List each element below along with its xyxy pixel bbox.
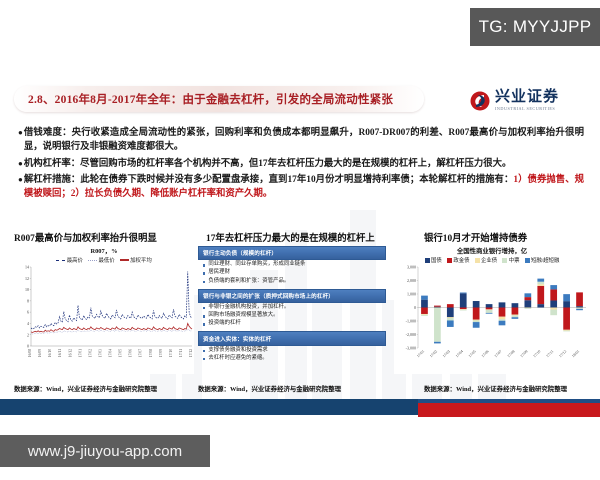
tg-watermark-text: TG: MYYJJPP (479, 17, 592, 37)
svg-text:17/11: 17/11 (179, 349, 183, 357)
bar-segment (563, 308, 570, 330)
logo-name-cn: 兴业证券 (495, 90, 559, 105)
bullet-marker: ● (18, 126, 23, 155)
legend-item: 企业债 (475, 256, 498, 264)
leverage-item-text: 回购市场融资规模显著放大。 (208, 311, 278, 319)
svg-text:17/05: 17/05 (119, 349, 123, 357)
svg-text:17/06: 17/06 (129, 349, 133, 357)
bar-segment (460, 309, 467, 310)
square-bullet-icon (203, 307, 205, 309)
square-bullet-icon (203, 315, 205, 317)
bar-segment (524, 308, 531, 309)
bar-segment (537, 304, 544, 307)
bar-segment (460, 293, 467, 307)
svg-text:17/10: 17/10 (169, 349, 173, 357)
legend-swatch (56, 260, 65, 261)
bar-segment (499, 302, 506, 307)
svg-text:2: 2 (27, 332, 29, 337)
svg-text:17/11: 17/11 (546, 349, 555, 358)
bar-segment (512, 315, 519, 316)
bar-segment (563, 301, 570, 307)
bullet-marker: ● (18, 157, 23, 171)
bullet-item: ●借钱难度：央行收紧造成全局流动性的紧张，回购利率和负债成本都明显飙升，R007… (18, 126, 584, 155)
svg-text:-1,000: -1,000 (406, 319, 416, 325)
legend-swatch (425, 258, 430, 263)
legend-label: 短融/超短融 (531, 256, 559, 264)
bar-segment (537, 286, 544, 304)
square-bullet-icon (203, 272, 205, 274)
legend-label: 企业债 (481, 256, 497, 264)
legend-item: 短融/超短融 (525, 256, 560, 264)
leverage-item-text: 支撑债务融资和投资需求 (208, 346, 267, 354)
legend-item: 加权平均 (120, 256, 152, 264)
bar-segment (576, 306, 583, 307)
square-bullet-icon (203, 358, 205, 360)
leverage-group-item: 同业理财、同业存单购买，形成同业链条 (198, 260, 386, 268)
bar-segment (447, 317, 454, 318)
bar-segment (576, 308, 583, 309)
bullet-text-segment: 借钱难度：央行收紧造成全局流动性的紧张，回购利率和负债成本都明显飙升，R007-… (24, 128, 584, 152)
bar-segment (447, 304, 454, 307)
svg-text:0: 0 (414, 305, 416, 310)
bar-segment (460, 310, 467, 311)
bar-segment (434, 342, 441, 344)
chart-r007-legend: 最高价最低价加权平均 (14, 256, 194, 264)
bar-segment (486, 308, 493, 310)
svg-text:17/03: 17/03 (442, 349, 451, 358)
svg-text:17/08: 17/08 (149, 349, 153, 357)
leverage-group-item: 居民理财 (198, 268, 386, 276)
source-note-middle: 数据来源：Wind，兴业证券经济与金融研究院整理 (198, 384, 341, 393)
legend-label: 中票 (509, 256, 520, 264)
bullet-item: ●机构杠杆率：尽管回购市场的杠杆率各个机构并不高，但17年去杠杆压力最大的是在规… (18, 157, 584, 171)
legend-item: 最低价 (88, 256, 115, 264)
svg-text:17/04: 17/04 (455, 349, 464, 358)
panel-header-middle: 17年去杠杆压力最大的是在规模的杠杆上 (206, 230, 375, 244)
bar-segment (563, 330, 570, 331)
svg-text:17/05: 17/05 (468, 349, 477, 358)
panel-header-left: R007最高价与加权利率抬升很明显 (14, 230, 157, 244)
svg-text:-3,000: -3,000 (406, 346, 416, 352)
bar-segment (421, 300, 428, 308)
svg-text:16/10: 16/10 (48, 349, 52, 357)
legend-label: 最低价 (98, 256, 114, 264)
bar-segment (473, 322, 480, 328)
chart-bank-holdings-panel: 全国性商业银行增持，亿 国债政金债企业债中票短融/超短融 -3,000-2,00… (394, 246, 590, 374)
svg-text:2,000: 2,000 (407, 278, 416, 284)
bar-segment (550, 308, 557, 310)
bar-segment (486, 313, 493, 314)
svg-text:17/01: 17/01 (416, 349, 425, 358)
svg-text:4: 4 (27, 321, 29, 326)
bar-segment (550, 310, 557, 316)
bullet-text: 机构杠杆率：尽管回购市场的杠杆率各个机构并不高，但17年去杠杆压力最大的是在规模… (24, 157, 584, 171)
bar-segment (537, 282, 544, 284)
bar-segment (563, 331, 570, 332)
chart-bank-holdings-legend: 国债政金债企业债中票短融/超短融 (394, 256, 590, 264)
legend-item: 中票 (502, 256, 519, 264)
bar-segment (576, 309, 583, 310)
bar-segment (421, 308, 428, 314)
bullet-item: ●解杠杆措施：此轮在债券下跌时候并没有多少配置盘承接，直到17年10月份才明显增… (18, 173, 584, 202)
square-bullet-icon (203, 281, 205, 283)
source-note-right: 数据来源：Wind，兴业证券经济与金融研究院整理 (424, 384, 567, 393)
slide-title-band: 2.8、2016年8月-2017年全年：由于金融去杠杆，引发的全局流动性紧张 (14, 86, 424, 112)
legend-swatch (120, 259, 129, 261)
bar-segment (434, 308, 441, 342)
legend-swatch (525, 258, 530, 263)
bar-segment (550, 289, 557, 300)
leverage-item-text: 去杠杆时应避免的紧缩。 (208, 354, 267, 362)
bullet-text-segment: 机构杠杆率：尽管回购市场的杠杆率各个机构并不高，但17年去杠杆压力最大的是在规模… (24, 159, 512, 169)
leverage-group-item: 非银行金融机构投资，并加杠杆。 (198, 303, 386, 311)
bar-segment (486, 309, 493, 310)
bar-segment (524, 297, 531, 300)
square-bullet-icon (203, 264, 205, 266)
bar-segment (486, 310, 493, 313)
leverage-item-text: 负债端的套利和扩张：资管产品。 (208, 277, 289, 285)
bullet-list: ●借钱难度：央行收紧造成全局流动性的紧张，回购利率和负债成本都明显飙升，R007… (18, 126, 584, 203)
svg-text:10: 10 (25, 287, 29, 292)
tg-watermark-badge: TG: MYYJJPP (470, 8, 600, 46)
svg-text:16/09: 16/09 (38, 349, 42, 357)
bar-segment (473, 301, 480, 307)
bar-segment (499, 317, 506, 319)
bar-segment (576, 292, 583, 306)
bar-segment (524, 293, 531, 297)
legend-swatch (475, 258, 480, 263)
svg-text:17/09: 17/09 (159, 349, 163, 357)
footer-bar-red (418, 403, 600, 417)
legend-swatch (502, 258, 507, 263)
bar-segment (499, 319, 506, 321)
svg-text:16/12: 16/12 (68, 349, 72, 357)
square-bullet-icon (203, 323, 205, 325)
svg-text:17/08: 17/08 (507, 349, 516, 358)
leverage-item-text: 非银行金融机构投资，并加杠杆。 (208, 303, 289, 311)
svg-text:8: 8 (27, 298, 29, 303)
svg-text:17/02: 17/02 (88, 349, 92, 357)
chart-bank-holdings-title: 全国性商业银行增持，亿 (394, 246, 590, 255)
chart-r007-title: R007，% (14, 246, 194, 255)
svg-text:17/07: 17/07 (139, 349, 143, 357)
leverage-group-header: 银行与非银之间的扩张（质押式回购市场上的杠杆） (198, 289, 386, 303)
bar-segment (512, 315, 519, 317)
svg-text:17/07: 17/07 (494, 349, 503, 358)
leverage-group-item: 回购市场融资规模显著放大。 (198, 311, 386, 319)
leverage-item-text: 投资端的杠杆 (208, 319, 240, 327)
leverage-group-item: 投资端的杠杆 (198, 319, 386, 327)
bar-segment (512, 303, 519, 307)
svg-text:1,000: 1,000 (407, 292, 416, 298)
svg-text:17/02: 17/02 (429, 349, 438, 358)
square-bullet-icon (203, 350, 205, 352)
bar-segment (499, 321, 506, 326)
svg-text:14: 14 (25, 265, 29, 270)
company-logo: 兴业证券 INDUSTRIAL SECURITIES (470, 86, 586, 116)
bar-segment (512, 317, 519, 319)
svg-text:16/11: 16/11 (58, 349, 62, 357)
leverage-group-header: 资金进入实体：实体的杠杆 (198, 331, 386, 345)
svg-text:17/12: 17/12 (189, 349, 193, 357)
svg-text:17/01: 17/01 (78, 349, 82, 357)
svg-text:17/09: 17/09 (520, 349, 529, 358)
legend-label: 加权平均 (130, 256, 152, 264)
legend-item: 国债 (425, 256, 442, 264)
bar-segment (537, 279, 544, 282)
bar-segment (447, 320, 454, 326)
bar-segment (434, 308, 441, 309)
bullet-text: 解杠杆措施：此轮在债券下跌时候并没有多少配置盘承接，直到17年10月份才明显增持… (24, 173, 584, 202)
bar-segment (537, 284, 544, 286)
panel-header-right: 银行10月才开始增持债券 (424, 230, 527, 244)
svg-text:18/01: 18/01 (571, 349, 580, 358)
legend-label: 政金债 (453, 256, 469, 264)
bar-segment (486, 304, 493, 307)
svg-text:12: 12 (25, 276, 29, 281)
leverage-group-header: 银行主动负债（规模的杠杆） (198, 246, 386, 260)
footer-bar-blue (0, 399, 418, 415)
leverage-group: 银行与非银之间的扩张（质押式回购市场上的杠杆）非银行金融机构投资，并加杠杆。回购… (198, 289, 386, 328)
bar-segment (524, 308, 531, 309)
bullet-text: 借钱难度：央行收紧造成全局流动性的紧张，回购利率和负债成本都明显飙升，R007-… (24, 126, 584, 155)
svg-text:6: 6 (27, 310, 29, 315)
leverage-group-item: 负债端的套利和扩张：资管产品。 (198, 277, 386, 285)
leverage-group: 银行主动负债（规模的杠杆）同业理财、同业存单购买，形成同业链条居民理财负债端的套… (198, 246, 386, 285)
logo-name-en: INDUSTRIAL SECURITIES (495, 107, 559, 111)
bullet-text-segment: 解杠杆措施：此轮在债券下跌时候并没有多少配置盘承接，直到17年10月份才明显增持… (24, 175, 514, 185)
bar-segment (550, 300, 557, 307)
logo-swirl-icon (470, 91, 490, 111)
bar-segment (563, 294, 570, 301)
leverage-group-item: 去杠杆时应避免的紧缩。 (198, 354, 386, 362)
svg-text:17/06: 17/06 (481, 349, 490, 358)
legend-item: 政金债 (447, 256, 470, 264)
leverage-structure-panel: 银行主动负债（规模的杠杆）同业理财、同业存单购买，形成同业链条居民理财负债端的套… (198, 246, 386, 374)
leverage-item-text: 同业理财、同业存单购买，形成同业链条 (208, 260, 305, 268)
bar-segment (460, 308, 467, 310)
url-watermark-text: www.j9-jiuyou-app.com (28, 443, 182, 460)
bar-segment (550, 285, 557, 289)
page-title: 2.8、2016年8月-2017年全年：由于金融去杠杆，引发的全局流动性紧张 (14, 91, 393, 107)
bar-segment (499, 308, 506, 317)
bar-segment (473, 320, 480, 322)
svg-text:3,000: 3,000 (407, 265, 416, 271)
url-watermark-badge: www.j9-jiuyou-app.com (0, 435, 210, 467)
svg-text:16/08: 16/08 (28, 349, 32, 357)
leverage-item-text: 居民理财 (208, 268, 230, 276)
svg-text:0: 0 (27, 344, 29, 349)
bar-segment (524, 300, 531, 307)
legend-label: 最高价 (67, 256, 83, 264)
svg-text:17/03: 17/03 (98, 349, 102, 357)
svg-text:-2,000: -2,000 (406, 332, 416, 338)
leverage-group-item: 支撑债务融资和投资需求 (198, 346, 386, 354)
svg-text:17/10: 17/10 (533, 349, 542, 358)
svg-text:17/12: 17/12 (558, 349, 567, 358)
bullet-marker: ● (18, 173, 23, 202)
bar-segment (447, 318, 454, 320)
bar-segment (473, 320, 480, 321)
bar-segment (460, 293, 467, 294)
bar-segment (473, 308, 480, 320)
bar-segment (421, 315, 428, 316)
source-note-left: 数据来源：Wind，兴业证券经济与金融研究院整理 (14, 384, 157, 393)
chart-r007-plot: 0246810121416/0816/0916/1016/1116/1217/0… (14, 264, 194, 370)
leverage-group: 资金进入实体：实体的杠杆支撑债务融资和投资需求去杠杆时应避免的紧缩。 (198, 331, 386, 362)
bar-segment (512, 308, 519, 315)
bar-segment (447, 308, 454, 318)
chart-bank-holdings-plot: -3,000-2,000-1,00001,0002,0003,00017/011… (394, 264, 590, 372)
bar-segment (421, 296, 428, 300)
bar-segment (434, 306, 441, 307)
legend-swatch (88, 260, 97, 261)
bar-segment (576, 308, 583, 309)
svg-text:17/04: 17/04 (109, 349, 113, 357)
legend-swatch (447, 258, 452, 263)
bar-segment (421, 314, 428, 315)
legend-item: 最高价 (56, 256, 83, 264)
legend-label: 国债 (431, 256, 442, 264)
chart-r007-panel: R007，% 最高价最低价加权平均 0246810121416/0816/091… (14, 246, 194, 374)
bar-segment (434, 307, 441, 308)
